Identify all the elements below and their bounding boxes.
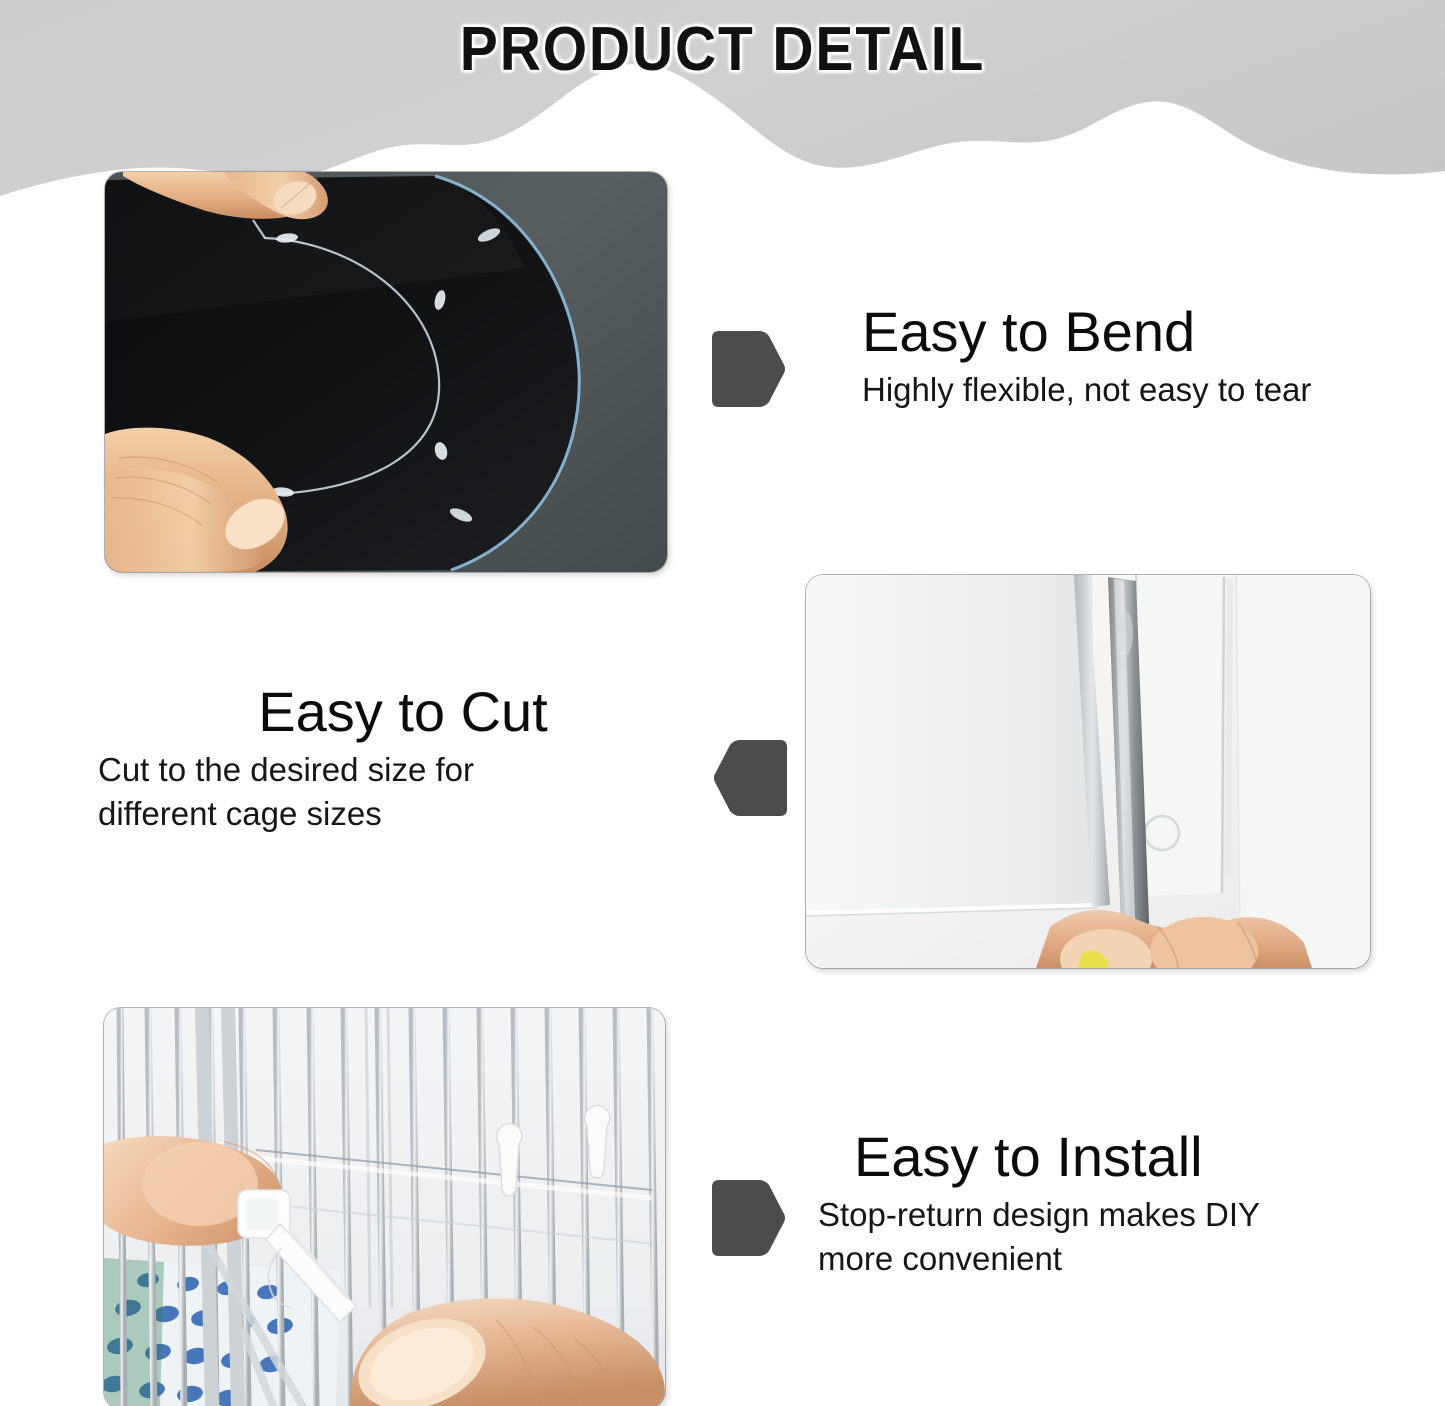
feature-subtitle-install-line-1: Stop-return design makes DIY — [818, 1193, 1418, 1237]
feature-heading-bend: Easy to Bend — [862, 300, 1422, 364]
photo-easy-to-install-artwork — [104, 1008, 665, 1406]
photo-easy-to-bend — [105, 172, 667, 572]
chevron-right-icon — [709, 1177, 787, 1259]
photo-easy-to-cut-artwork — [806, 575, 1370, 968]
product-detail-page: PRODUCT DETAIL — [0, 0, 1445, 1406]
chevron-left-icon — [712, 737, 790, 819]
arrow-marker-right-bend — [709, 328, 787, 410]
feature-easy-to-bend: Easy to Bend Highly flexible, not easy t… — [862, 300, 1422, 412]
feature-easy-to-cut: Easy to Cut Cut to the desired size for … — [98, 680, 698, 836]
feature-subtitle-bend: Highly flexible, not easy to tear — [862, 368, 1422, 412]
photo-easy-to-cut — [806, 575, 1370, 968]
arrow-marker-left-cut — [712, 737, 790, 819]
chevron-right-icon — [709, 328, 787, 410]
feature-heading-install: Easy to Install — [818, 1125, 1418, 1189]
photo-easy-to-install — [104, 1008, 665, 1406]
feature-easy-to-install: Easy to Install Stop-return design makes… — [818, 1125, 1418, 1281]
feature-heading-cut: Easy to Cut — [98, 680, 698, 744]
feature-subtitle-install-line-2: more convenient — [818, 1237, 1418, 1281]
feature-subtitle-cut-line-2: different cage sizes — [98, 792, 698, 836]
feature-subtitle-cut-line-1: Cut to the desired size for — [98, 748, 698, 792]
arrow-marker-right-install — [709, 1177, 787, 1259]
photo-easy-to-bend-artwork — [105, 172, 667, 572]
page-title: PRODUCT DETAIL — [58, 14, 1387, 86]
